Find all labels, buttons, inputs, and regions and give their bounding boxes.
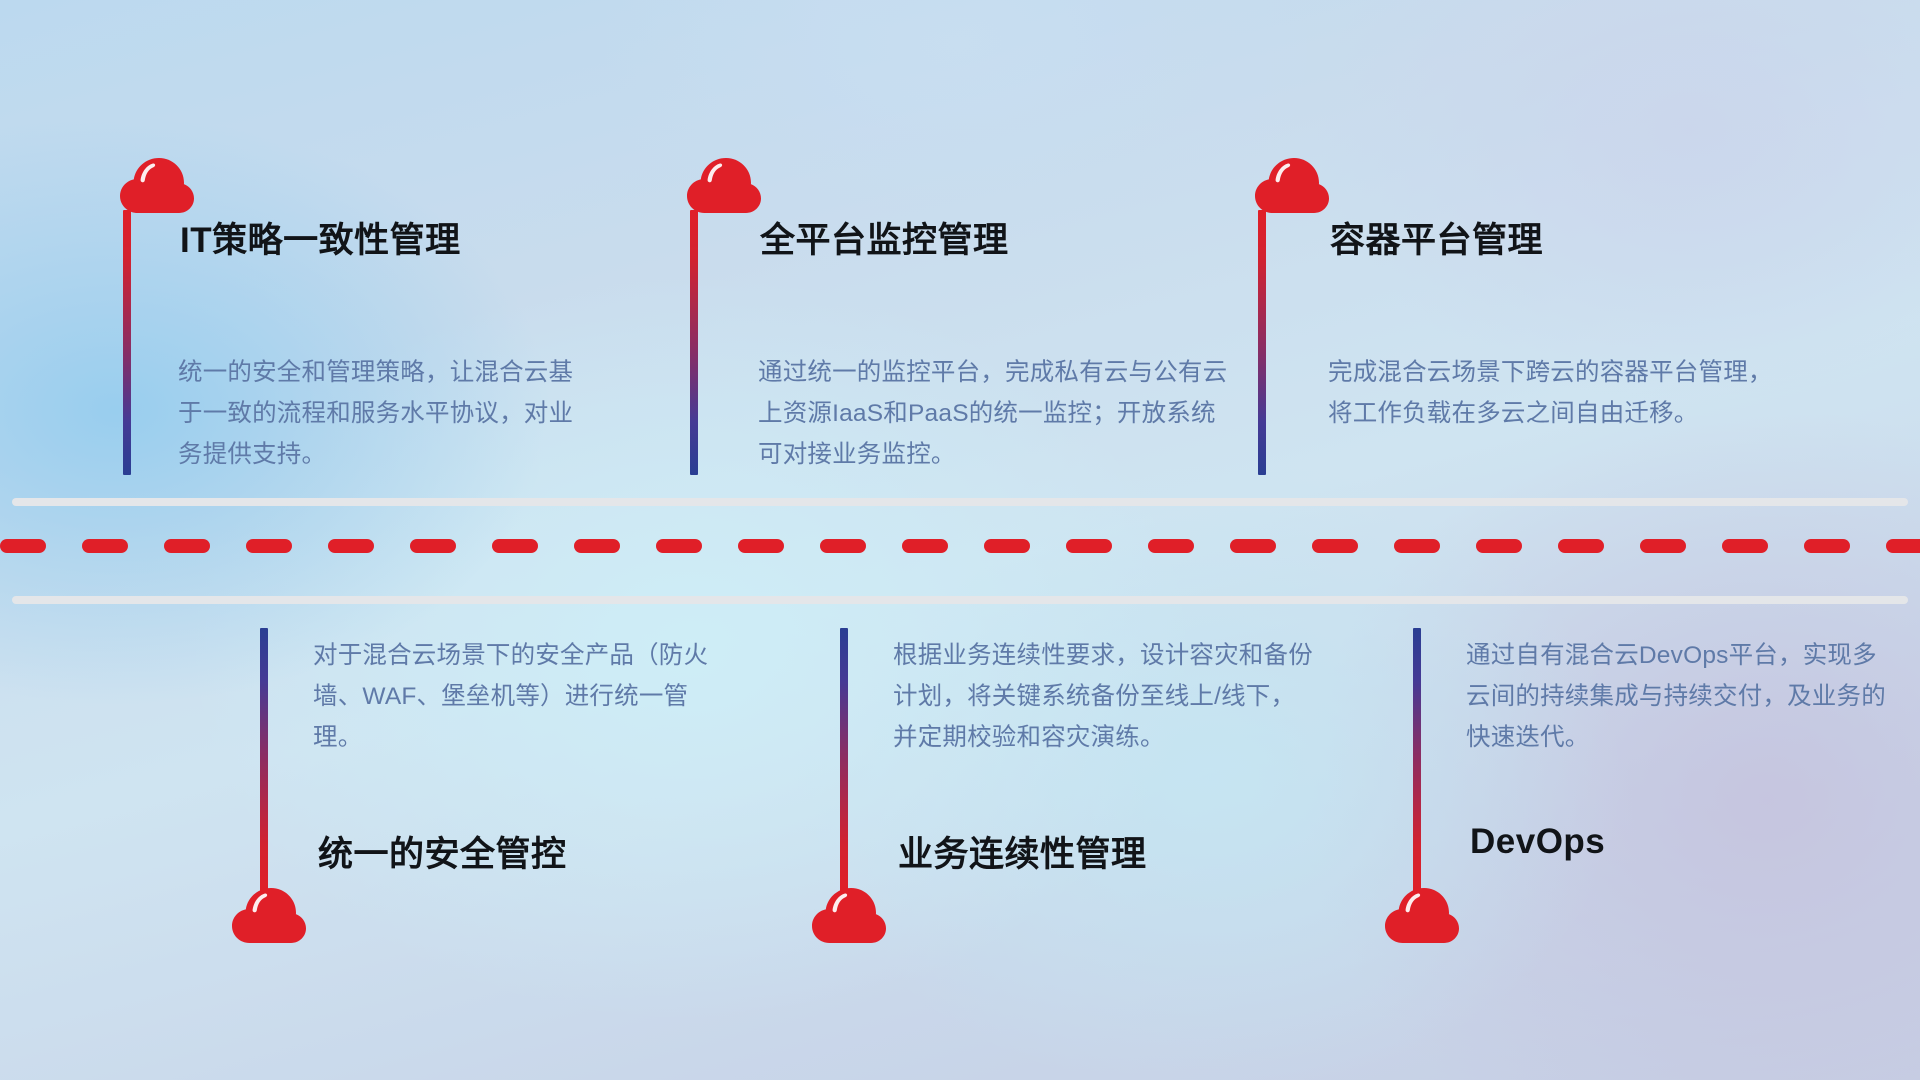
top-heading-2: 全平台监控管理 xyxy=(760,212,1009,263)
dash-segment xyxy=(164,539,210,553)
dash-segment xyxy=(1722,539,1768,553)
top-body-1: 统一的安全和管理策略，让混合云基于一致的流程和服务水平协议，对业务提供支持。 xyxy=(178,352,596,475)
cloud-icon xyxy=(812,888,886,944)
divider-dashed-line xyxy=(0,539,1920,553)
connector-stem xyxy=(260,628,268,893)
bottom-body-2: 根据业务连续性要求，设计容灾和备份计划，将关键系统备份至线上/线下，并定期校验和… xyxy=(893,635,1313,758)
dash-segment xyxy=(82,539,128,553)
dash-segment xyxy=(902,539,948,553)
connector-stem xyxy=(1413,628,1421,893)
connector-stem xyxy=(123,210,131,475)
cloud-icon xyxy=(232,888,306,944)
divider-rail-bottom xyxy=(12,596,1908,604)
connector-stem xyxy=(840,628,848,893)
top-heading-1: IT策略一致性管理 xyxy=(180,212,461,263)
connector-stem xyxy=(690,210,698,475)
dash-segment xyxy=(656,539,702,553)
dash-segment xyxy=(328,539,374,553)
bottom-heading-1: 统一的安全管控 xyxy=(318,826,567,877)
dash-segment xyxy=(1640,539,1686,553)
top-heading-3: 容器平台管理 xyxy=(1330,212,1543,263)
top-body-2: 通过统一的监控平台，完成私有云与公有云上资源IaaS和PaaS的统一监控；开放系… xyxy=(758,352,1236,475)
bottom-body-1: 对于混合云场景下的安全产品（防火墙、WAF、堡垒机等）进行统一管理。 xyxy=(313,635,733,758)
cloud-icon xyxy=(687,158,761,214)
dash-segment xyxy=(738,539,784,553)
dash-segment xyxy=(410,539,456,553)
dash-segment xyxy=(492,539,538,553)
dash-segment xyxy=(1394,539,1440,553)
cloud-icon xyxy=(1385,888,1459,944)
dash-segment xyxy=(984,539,1030,553)
dash-segment xyxy=(1148,539,1194,553)
dash-segment xyxy=(1804,539,1850,553)
dash-segment xyxy=(820,539,866,553)
dash-segment xyxy=(0,539,46,553)
divider-rail-top xyxy=(12,498,1908,506)
dash-segment xyxy=(1312,539,1358,553)
bottom-body-3: 通过自有混合云DevOps平台，实现多云间的持续集成与持续交付，及业务的快速迭代… xyxy=(1466,635,1886,758)
dash-segment xyxy=(574,539,620,553)
dash-segment xyxy=(1230,539,1276,553)
dash-segment xyxy=(1558,539,1604,553)
dash-segment xyxy=(1066,539,1112,553)
top-body-3: 完成混合云场景下跨云的容器平台管理，将工作负载在多云之间自由迁移。 xyxy=(1328,352,1788,434)
bottom-heading-3: DevOps xyxy=(1470,822,1605,862)
dash-segment xyxy=(246,539,292,553)
cloud-icon xyxy=(1255,158,1329,214)
cloud-icon xyxy=(120,158,194,214)
infographic-canvas: IT策略一致性管理 统一的安全和管理策略，让混合云基于一致的流程和服务水平协议，… xyxy=(0,0,1920,1080)
dash-segment xyxy=(1476,539,1522,553)
bottom-heading-2: 业务连续性管理 xyxy=(898,826,1147,877)
dash-segment xyxy=(1886,539,1920,553)
connector-stem xyxy=(1258,210,1266,475)
